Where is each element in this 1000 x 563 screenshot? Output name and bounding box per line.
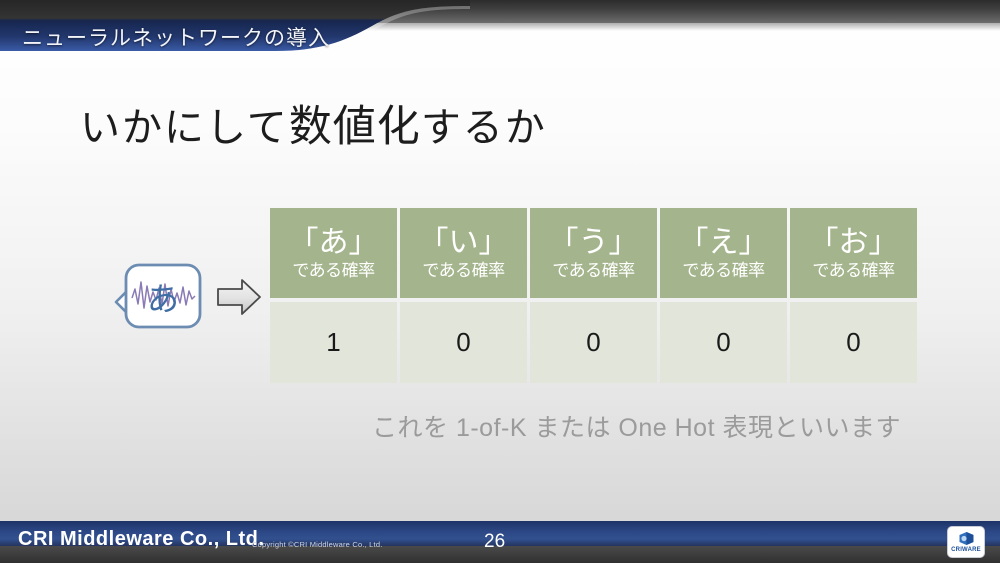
table-header-sub: である確率 bbox=[812, 260, 894, 282]
page-title-suffix: するか bbox=[421, 106, 547, 150]
table-header-cell: 「い」 である確率 bbox=[400, 208, 527, 298]
cube-icon bbox=[958, 531, 975, 546]
table-header-kana: 「え」 bbox=[679, 226, 769, 260]
table-header-kana: 「う」 bbox=[549, 226, 639, 260]
table-header-sub: である確率 bbox=[422, 260, 504, 282]
criware-logo-text: CRIWARE bbox=[951, 547, 981, 553]
table-header-cell: 「う」 である確率 bbox=[530, 208, 657, 298]
page-title: いかにして数値化するか bbox=[80, 92, 547, 154]
banner: ニューラルネットワークの導入 bbox=[0, 0, 470, 56]
table-cell-value: 0 bbox=[530, 302, 657, 383]
table-cell-value: 1 bbox=[270, 302, 397, 383]
banner-title: ニューラルネットワークの導入 bbox=[22, 22, 330, 52]
table-header-cell: 「あ」 である確率 bbox=[270, 208, 397, 298]
table-row: 1 0 0 0 0 bbox=[270, 302, 920, 383]
page-title-emphasis: 数値化 bbox=[289, 103, 421, 151]
table-header-cell: 「え」 である確率 bbox=[660, 208, 787, 298]
criware-logo: CRIWARE bbox=[948, 527, 984, 557]
table-header-sub: である確率 bbox=[552, 260, 634, 282]
table-cell-value: 0 bbox=[790, 302, 917, 383]
table-header-row: 「あ」 である確率 「い」 である確率 「う」 である確率 「え」 である確率 … bbox=[270, 208, 920, 298]
table-header-kana: 「あ」 bbox=[289, 226, 379, 260]
table-header-cell: 「お」 である確率 bbox=[790, 208, 917, 298]
table-cell-value: 0 bbox=[660, 302, 787, 383]
right-arrow-icon bbox=[216, 276, 262, 318]
svg-text:あ: あ bbox=[147, 280, 179, 318]
slide-root: ニューラルネットワークの導入 いかにして数値化するか あ bbox=[0, 0, 1000, 563]
probability-table: 「あ」 である確率 「い」 である確率 「う」 である確率 「え」 である確率 … bbox=[270, 208, 920, 383]
audio-waveform-icon: あ bbox=[108, 258, 208, 340]
footer-copyright: Copyright ©CRI Middleware Co., Ltd. bbox=[252, 540, 383, 549]
page-title-prefix: いかにして bbox=[80, 106, 289, 150]
table-header-sub: である確率 bbox=[292, 260, 374, 282]
page-number: 26 bbox=[484, 531, 505, 553]
table-cell-value: 0 bbox=[400, 302, 527, 383]
speech-bubble: あ bbox=[108, 258, 208, 340]
footer-company-name: CRI Middleware Co., Ltd. bbox=[18, 528, 264, 551]
table-header-kana: 「お」 bbox=[809, 226, 899, 260]
table-header-kana: 「い」 bbox=[419, 226, 509, 260]
table-header-sub: である確率 bbox=[682, 260, 764, 282]
caption-text: これを 1-of-K または One Hot 表現といいます bbox=[372, 408, 901, 444]
